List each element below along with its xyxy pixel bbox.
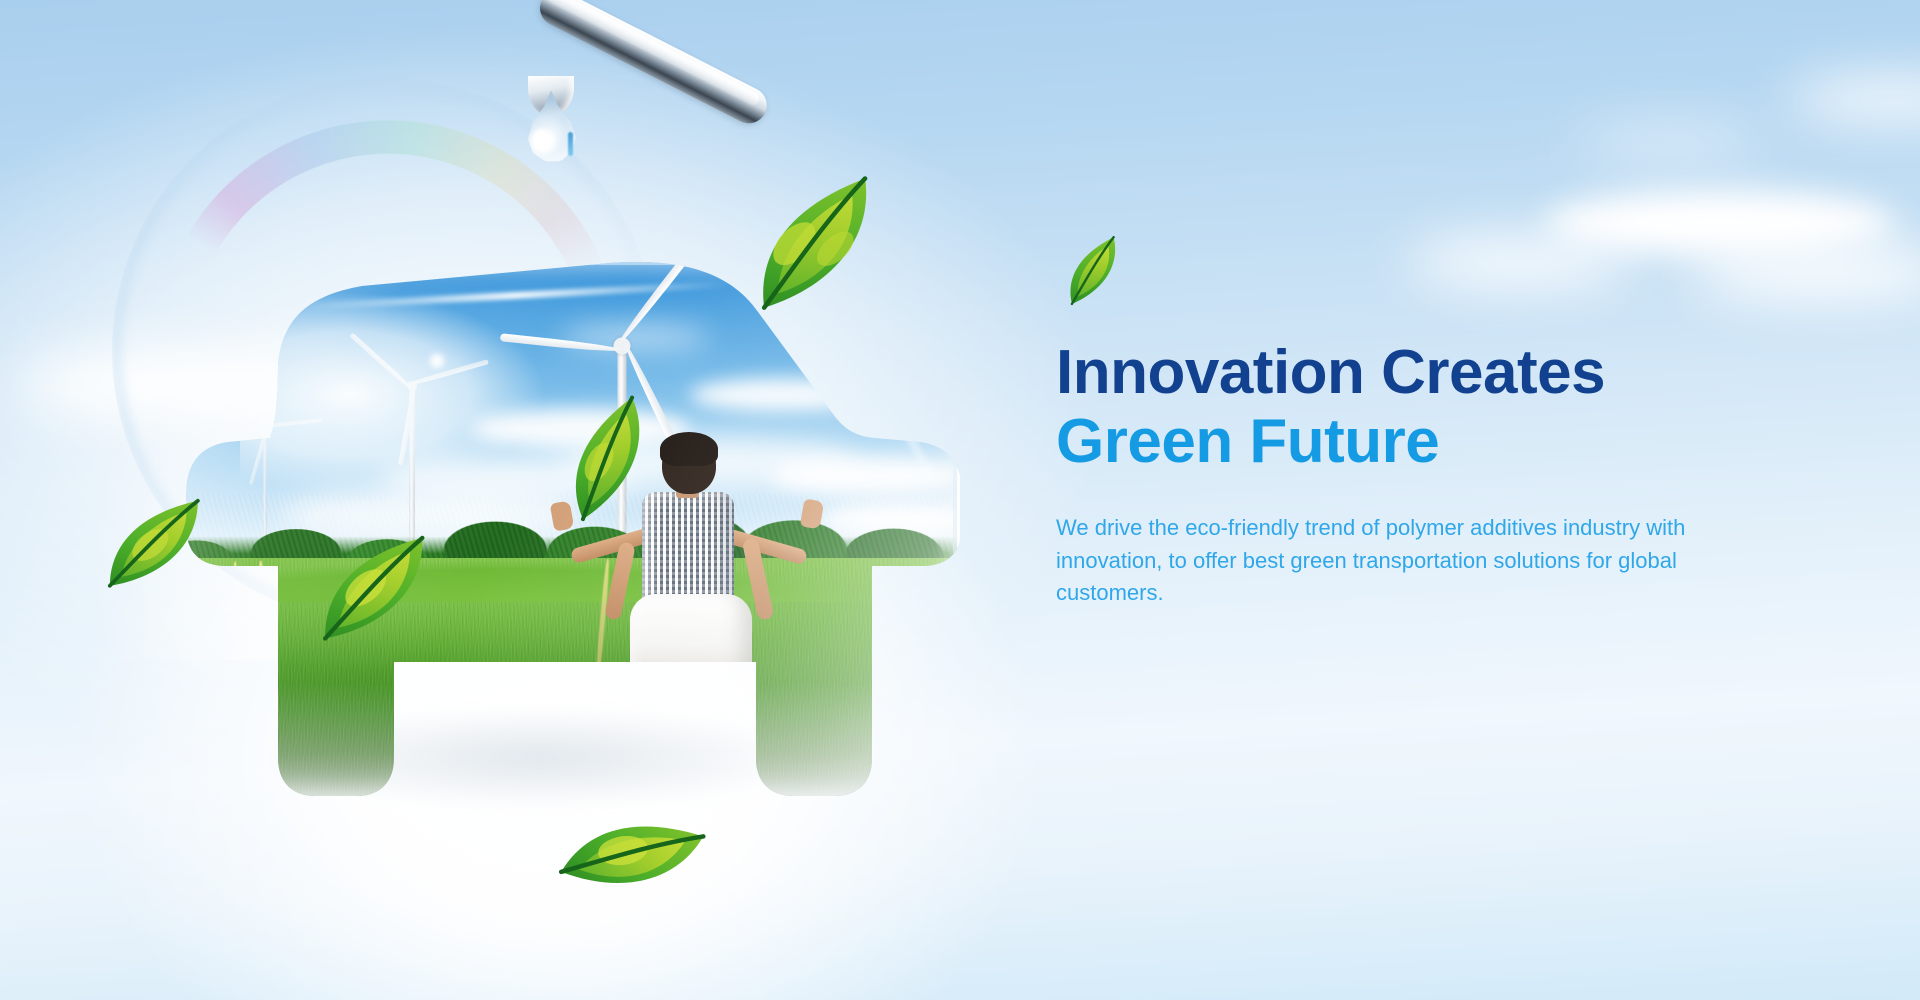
headline-line-1: Innovation Creates	[1056, 340, 1796, 407]
droplet-highlight	[534, 130, 547, 149]
headline-line-2: Green Future	[1056, 407, 1796, 476]
glass-car-silhouette	[130, 258, 960, 858]
faucet-highlight	[545, 0, 761, 107]
leaf-headline	[1050, 233, 1136, 309]
hero-banner: Innovation Creates Green Future We drive…	[0, 0, 1920, 1000]
glass-streak-top	[300, 281, 730, 310]
glass-streak-right	[818, 270, 943, 495]
chrome-faucet-icon	[490, 0, 780, 172]
faucet-spout	[534, 0, 773, 130]
hero-body-text: We drive the eco-friendly trend of polym…	[1056, 512, 1776, 610]
hero-copy-block: Innovation Creates Green Future We drive…	[1056, 340, 1796, 610]
droplet-blue-reflection	[568, 132, 573, 156]
